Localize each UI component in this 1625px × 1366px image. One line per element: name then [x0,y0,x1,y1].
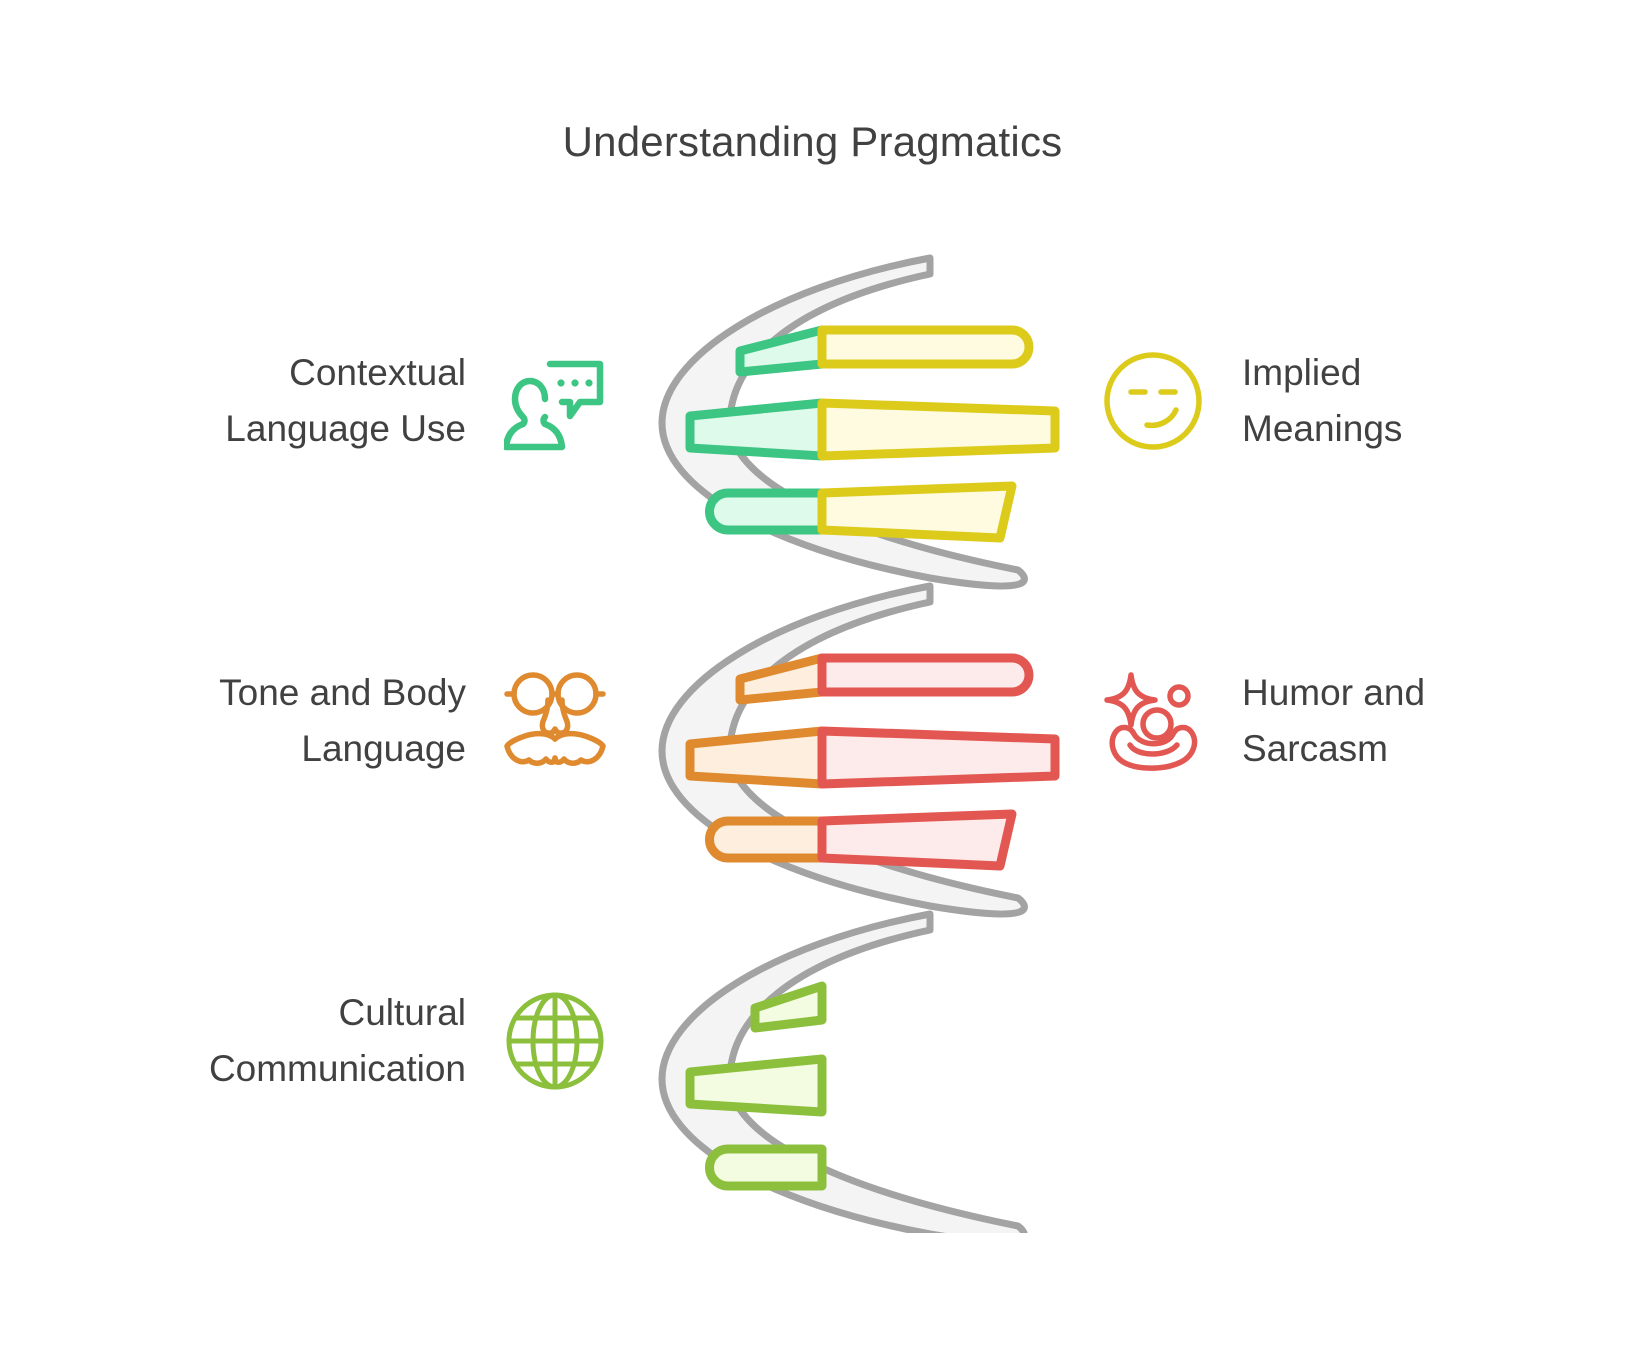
item-label: Cultural Communication [209,985,500,1097]
sparkle-smile-icon [1098,666,1208,776]
helix-group-middle [690,658,1055,866]
globe-icon [500,986,610,1096]
page-title: Understanding Pragmatics [0,118,1625,166]
item-label: Contextual Language Use [225,345,500,457]
rung-right-red-2 [822,731,1055,784]
rung-left-olive-3 [710,1149,823,1186]
rung-left-orange-2 [690,731,822,784]
rung-left-olive-2 [690,1059,822,1112]
smirking-face-icon [1098,346,1208,456]
item-cultural-communication[interactable]: Cultural Communication [60,985,610,1097]
rung-left-orange-3 [710,821,823,858]
infographic-canvas: Understanding Pragmatics [0,0,1625,1366]
item-humor-and-sarcasm[interactable]: Humor and Sarcasm [1098,665,1568,777]
item-label: Humor and Sarcasm [1208,665,1425,777]
glasses-nose-mustache-icon [500,666,610,776]
item-label: Tone and Body Language [219,665,500,777]
item-contextual-language-use[interactable]: Contextual Language Use [120,345,610,457]
rung-right-red-3 [822,814,1012,866]
dna-helix-diagram [600,248,1080,1233]
rung-right-red-1 [822,658,1029,692]
item-tone-and-body-language[interactable]: Tone and Body Language [100,665,610,777]
item-label: Implied Meanings [1208,345,1402,457]
person-speech-bubble-icon [500,346,610,456]
rung-right-yellow-2 [822,403,1055,456]
item-implied-meanings[interactable]: Implied Meanings [1098,345,1568,457]
